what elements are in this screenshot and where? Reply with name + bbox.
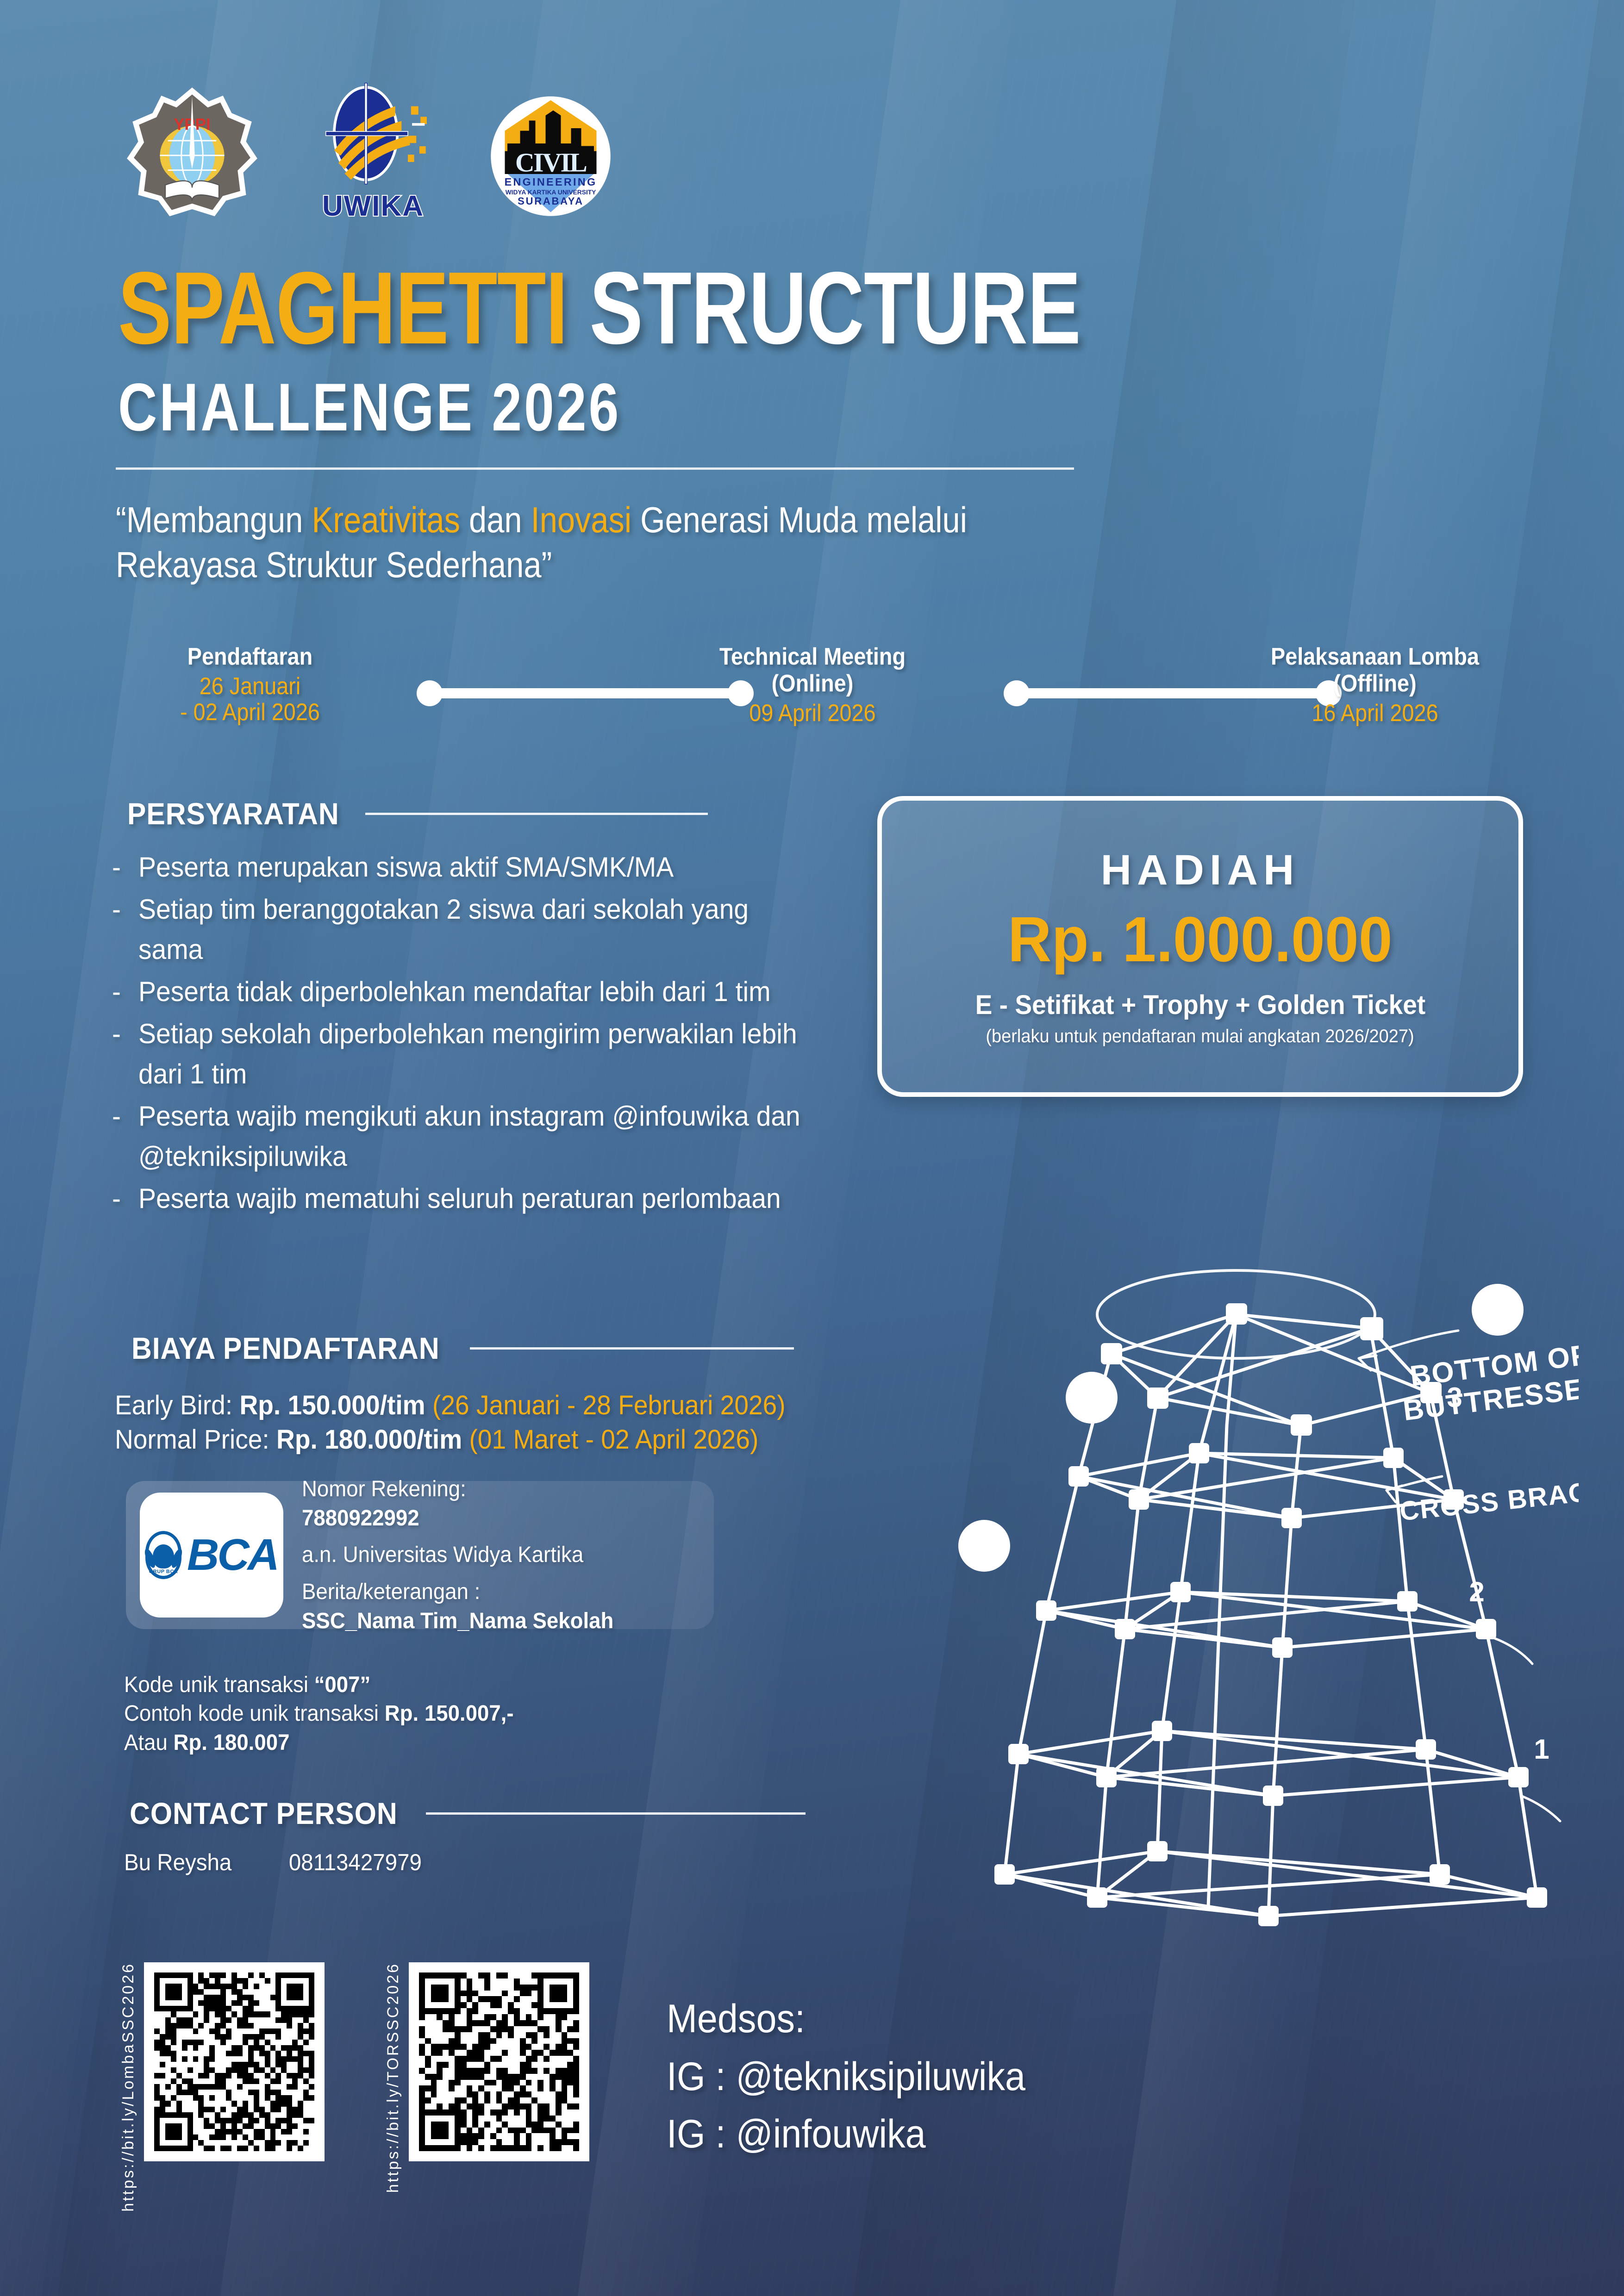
list-bullet: - (112, 971, 128, 1012)
fee-row-early-bird: Early Bird: Rp. 150.000/tim (26 Januari … (115, 1388, 818, 1423)
title-challenge-year: CHALLENGE 2026 (118, 373, 1105, 441)
timeline-date: 09 April 2026 (675, 700, 950, 728)
callout-badge-7: 7 (1066, 1372, 1118, 1424)
list-item: - Peserta tidak diperbolehkan mendaftar … (112, 971, 807, 1012)
bank-details: Nomor Rekening: 7880922992 a.n. Universi… (302, 1475, 613, 1636)
contact-heading: CONTACT PERSON (118, 1796, 806, 1831)
svg-text:ENGINEERING: ENGINEERING (505, 176, 597, 188)
timeline-item-registration: Pendaftaran 26 Januari - 02 April 2026 (97, 643, 403, 727)
poster-title: SPAGHETTI STRUCTURE CHALLENGE 2026 (118, 259, 1352, 441)
callout-number-2: 2 (1469, 1576, 1484, 1607)
timeline-subtitle: (Offline) (1237, 670, 1512, 697)
social-heading: Medsos: (667, 1990, 1025, 2048)
prize-amount: Rp. 1.000.000 (1008, 903, 1393, 977)
structure-sketch-icon: 8 7 6 3 2 1 BOTTOM OF BUTTRESSES (940, 1259, 1579, 1953)
tagline-part-1: “Membangun (116, 499, 312, 540)
poster-tagline: “Membangun Kreativitas dan Inovasi Gener… (116, 498, 1134, 587)
qr-image-registration[interactable] (144, 1962, 325, 2161)
list-bullet: - (112, 1096, 128, 1176)
spaghetti-structure-illustration: 8 7 6 3 2 1 BOTTOM OF BUTTRESSES (940, 1259, 1579, 1953)
svg-text:SURABAYA: SURABAYA (518, 195, 584, 207)
qr-label-registration: https://bit.ly/LombaSSC2026 (119, 1962, 137, 2212)
list-item: - Setiap tim beranggotakan 2 siswa dari … (112, 889, 807, 970)
prize-note: (berlaku untuk pendaftaran mulai angkata… (986, 1026, 1414, 1047)
timeline-date: 16 April 2026 (1237, 700, 1512, 728)
fee-early-price: Rp. 150.000/tim (239, 1390, 425, 1420)
title-spaghetti: SPAGHETTI (118, 251, 568, 366)
contact-heading-label: CONTACT PERSON (130, 1796, 397, 1831)
tagline-part-3: Generasi Muda melalui (631, 499, 967, 540)
timeline-item-competition: Pelaksanaan Lomba (Offline) 16 April 202… (1222, 643, 1528, 728)
qr-image-tor[interactable] (409, 1962, 589, 2161)
social-ig-tekniksipil[interactable]: IG : @tekniksipiluwika (667, 2048, 1025, 2106)
list-item-text: Peserta merupakan siswa aktif SMA/SMK/MA (138, 847, 674, 887)
fee-normal-price: Rp. 180.000/tim (276, 1425, 462, 1455)
bank-account-label: Nomor Rekening: (302, 1475, 613, 1504)
list-bullet: - (112, 1178, 128, 1219)
fee-heading: BIAYA PENDAFTARAN (118, 1331, 794, 1366)
list-item: - Setiap sekolah diperbolehkan mengirim … (112, 1014, 807, 1094)
bank-account-number: 7880922992 (302, 1504, 613, 1533)
unique-code-text-1: Kode unik transaksi (124, 1673, 314, 1697)
timeline-subtitle: (Online) (675, 670, 950, 697)
bca-logo-icon: GRUP BCA BCA (140, 1493, 283, 1618)
contact-heading-rule (426, 1812, 806, 1815)
unique-code-line-1: Kode unik transaksi “007” (124, 1671, 784, 1699)
prize-extras: E - Setifikat + Trophy + Golden Ticket (975, 989, 1425, 1020)
qr-label-tor: https://bit.ly/TORSSC2026 (384, 1962, 402, 2193)
svg-text:CIVIL: CIVIL (515, 149, 587, 178)
list-item-text: Peserta wajib mematuhi seluruh peraturan… (138, 1178, 781, 1219)
unique-code-example-1: Rp. 150.007,- (385, 1701, 514, 1726)
tagline-highlight-inovasi: Inovasi (531, 499, 631, 540)
fee-row-normal: Normal Price: Rp. 180.000/tim (01 Maret … (115, 1423, 818, 1457)
fee-early-label: Early Bird: (115, 1390, 239, 1420)
title-divider (116, 467, 1074, 470)
yppi-logo-icon: YPPI (125, 86, 259, 220)
list-bullet: - (112, 1014, 128, 1094)
list-item-text: Peserta wajib mengikuti akun instagram @… (138, 1096, 807, 1176)
prize-title: HADIAH (1101, 846, 1300, 895)
requirements-heading-label: PERSYARATAN (127, 796, 339, 831)
timeline-date-end: - 02 April 2026 (112, 699, 387, 727)
unique-code-text-3: Atau (124, 1730, 173, 1755)
callout-number-8: 8 (1489, 1292, 1506, 1326)
uwika-logo-icon: UWIKA (304, 81, 443, 220)
unique-code-line-3: Atau Rp. 180.007 (124, 1729, 784, 1757)
requirements-list: - Peserta merupakan siswa aktif SMA/SMK/… (112, 847, 807, 1220)
list-bullet: - (112, 889, 128, 970)
timeline-title: Technical Meeting (675, 643, 950, 670)
civil-engineering-logo-icon: CIVIL ENGINEERING WIDYA KARTIKA UNIVERSI… (487, 93, 614, 220)
timeline-item-technical-meeting: Technical Meeting (Online) 09 April 2026 (660, 643, 965, 728)
bank-transfer-card: GRUP BCA BCA Nomor Rekening: 7880922992 … (126, 1481, 714, 1629)
contact-phone[interactable]: 08113427979 (289, 1849, 422, 1876)
bank-note-label: Berita/keterangan : (302, 1577, 613, 1606)
fee-details: Early Bird: Rp. 150.000/tim (26 Januari … (115, 1388, 818, 1457)
bank-account-holder: a.n. Universitas Widya Kartika (302, 1540, 613, 1569)
callout-number-1: 1 (1534, 1734, 1549, 1765)
contact-name: Bu Reysha (124, 1849, 231, 1876)
bca-emblem-icon: GRUP BCA (145, 1531, 181, 1579)
list-item-text: Setiap tim beranggotakan 2 siswa dari se… (138, 889, 807, 970)
list-bullet: - (112, 847, 128, 887)
requirements-heading: PERSYARATAN (118, 796, 708, 831)
uwika-wordmark: UWIKA (304, 190, 443, 223)
social-ig-infouwika[interactable]: IG : @infouwika (667, 2105, 1025, 2163)
timeline-date-start: 26 Januari (112, 673, 387, 701)
callout-badge-6: 6 (958, 1520, 1010, 1572)
prize-card: HADIAH Rp. 1.000.000 E - Setifikat + Tro… (877, 796, 1523, 1097)
list-item-text: Peserta tidak diperbolehkan mendaftar le… (138, 971, 771, 1012)
poster-canvas: YPPI (0, 0, 1624, 2296)
list-item: - Peserta wajib mematuhi seluruh peratur… (112, 1178, 807, 1219)
timeline-dot-3 (1004, 680, 1030, 706)
fee-normal-period: (01 Maret - 02 April 2026) (462, 1425, 758, 1455)
requirements-heading-rule (365, 813, 708, 815)
unique-code-text-2: Contoh kode unik transaksi (124, 1701, 385, 1726)
bca-wordmark: BCA (187, 1530, 278, 1580)
contact-row: Bu Reysha 08113427979 (124, 1849, 422, 1876)
tagline-part-2: dan (460, 499, 531, 540)
callout-number-6: 6 (976, 1528, 993, 1562)
unique-code-line-2: Contoh kode unik transaksi Rp. 150.007,- (124, 1699, 784, 1728)
fee-heading-label: BIAYA PENDAFTARAN (131, 1331, 440, 1366)
fee-early-period: (26 Januari - 28 Februari 2026) (425, 1390, 786, 1420)
svg-text:WIDYA KARTIKA UNIVERSITY: WIDYA KARTIKA UNIVERSITY (506, 189, 596, 196)
unique-code-note: Kode unik transaksi “007” Contoh kode un… (124, 1671, 784, 1757)
callout-badge-8: 8 (1472, 1284, 1524, 1336)
timeline-dot-1 (417, 680, 443, 706)
callout-number-7: 7 (1083, 1380, 1100, 1414)
unique-code-example-2: Rp. 180.007 (173, 1730, 289, 1755)
qr-code-registration[interactable]: https://bit.ly/LombaSSC2026 (119, 1962, 325, 2212)
social-media-block: Medsos: IG : @tekniksipiluwika IG : @inf… (667, 1990, 1025, 2163)
list-item: - Peserta merupakan siswa aktif SMA/SMK/… (112, 847, 807, 887)
unique-code-value: “007” (314, 1673, 371, 1697)
timeline-title: Pelaksanaan Lomba (1237, 643, 1512, 670)
tagline-highlight-kreativitas: Kreativitas (312, 499, 460, 540)
fee-normal-label: Normal Price: (115, 1425, 276, 1455)
fee-heading-rule (470, 1347, 794, 1350)
timeline-title: Pendaftaran (112, 643, 387, 670)
list-item: - Peserta wajib mengikuti akun instagram… (112, 1096, 807, 1176)
logo-row: YPPI (125, 81, 614, 220)
tagline-part-4: Rekayasa Struktur Sederhana” (116, 544, 552, 585)
bca-group-label: GRUP BCA (149, 1569, 178, 1574)
title-structure: STRUCTURE (568, 251, 1081, 366)
qr-code-tor[interactable]: https://bit.ly/TORSSC2026 (384, 1962, 589, 2193)
bank-note-format: SSC_Nama Tim_Nama Sekolah (302, 1606, 613, 1636)
list-item-text: Setiap sekolah diperbolehkan mengirim pe… (138, 1014, 807, 1094)
event-timeline: Pendaftaran 26 Januari - 02 April 2026 T… (97, 643, 1528, 745)
